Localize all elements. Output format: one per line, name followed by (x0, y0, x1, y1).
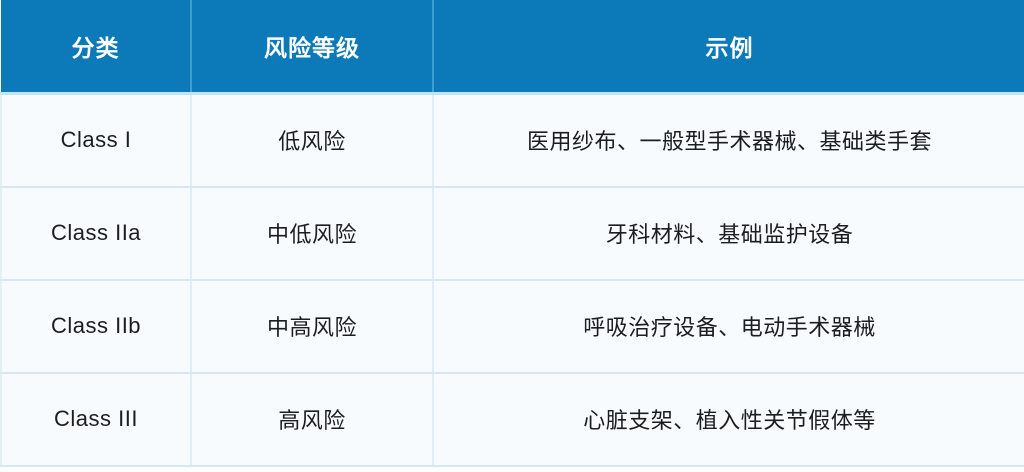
column-header-classification: 分类 (1, 0, 191, 94)
table-row: Class IIa 中低风险 牙科材料、基础监护设备 (1, 187, 1024, 280)
column-header-examples: 示例 (433, 0, 1024, 94)
column-header-risk-level: 风险等级 (191, 0, 433, 94)
table-body: Class I 低风险 医用纱布、一般型手术器械、基础类手套 Class IIa… (1, 94, 1024, 466)
table-row: Class III 高风险 心脏支架、植入性关节假体等 (1, 373, 1024, 466)
cell-classification: Class I (1, 94, 191, 187)
risk-classification-table: 分类 风险等级 示例 Class I 低风险 医用纱布、一般型手术器械、基础类手… (0, 0, 1024, 467)
header-row: 分类 风险等级 示例 (1, 0, 1024, 94)
cell-classification: Class IIb (1, 280, 191, 373)
cell-risk-level: 高风险 (191, 373, 433, 466)
cell-examples: 心脏支架、植入性关节假体等 (433, 373, 1024, 466)
table-header: 分类 风险等级 示例 (1, 0, 1024, 94)
table-row: Class IIb 中高风险 呼吸治疗设备、电动手术器械 (1, 280, 1024, 373)
cell-examples: 医用纱布、一般型手术器械、基础类手套 (433, 94, 1024, 187)
table-row: Class I 低风险 医用纱布、一般型手术器械、基础类手套 (1, 94, 1024, 187)
cell-classification: Class III (1, 373, 191, 466)
cell-risk-level: 中低风险 (191, 187, 433, 280)
cell-risk-level: 低风险 (191, 94, 433, 187)
cell-examples: 牙科材料、基础监护设备 (433, 187, 1024, 280)
cell-risk-level: 中高风险 (191, 280, 433, 373)
cell-classification: Class IIa (1, 187, 191, 280)
risk-classification-table-container: 分类 风险等级 示例 Class I 低风险 医用纱布、一般型手术器械、基础类手… (0, 0, 1024, 472)
cell-examples: 呼吸治疗设备、电动手术器械 (433, 280, 1024, 373)
